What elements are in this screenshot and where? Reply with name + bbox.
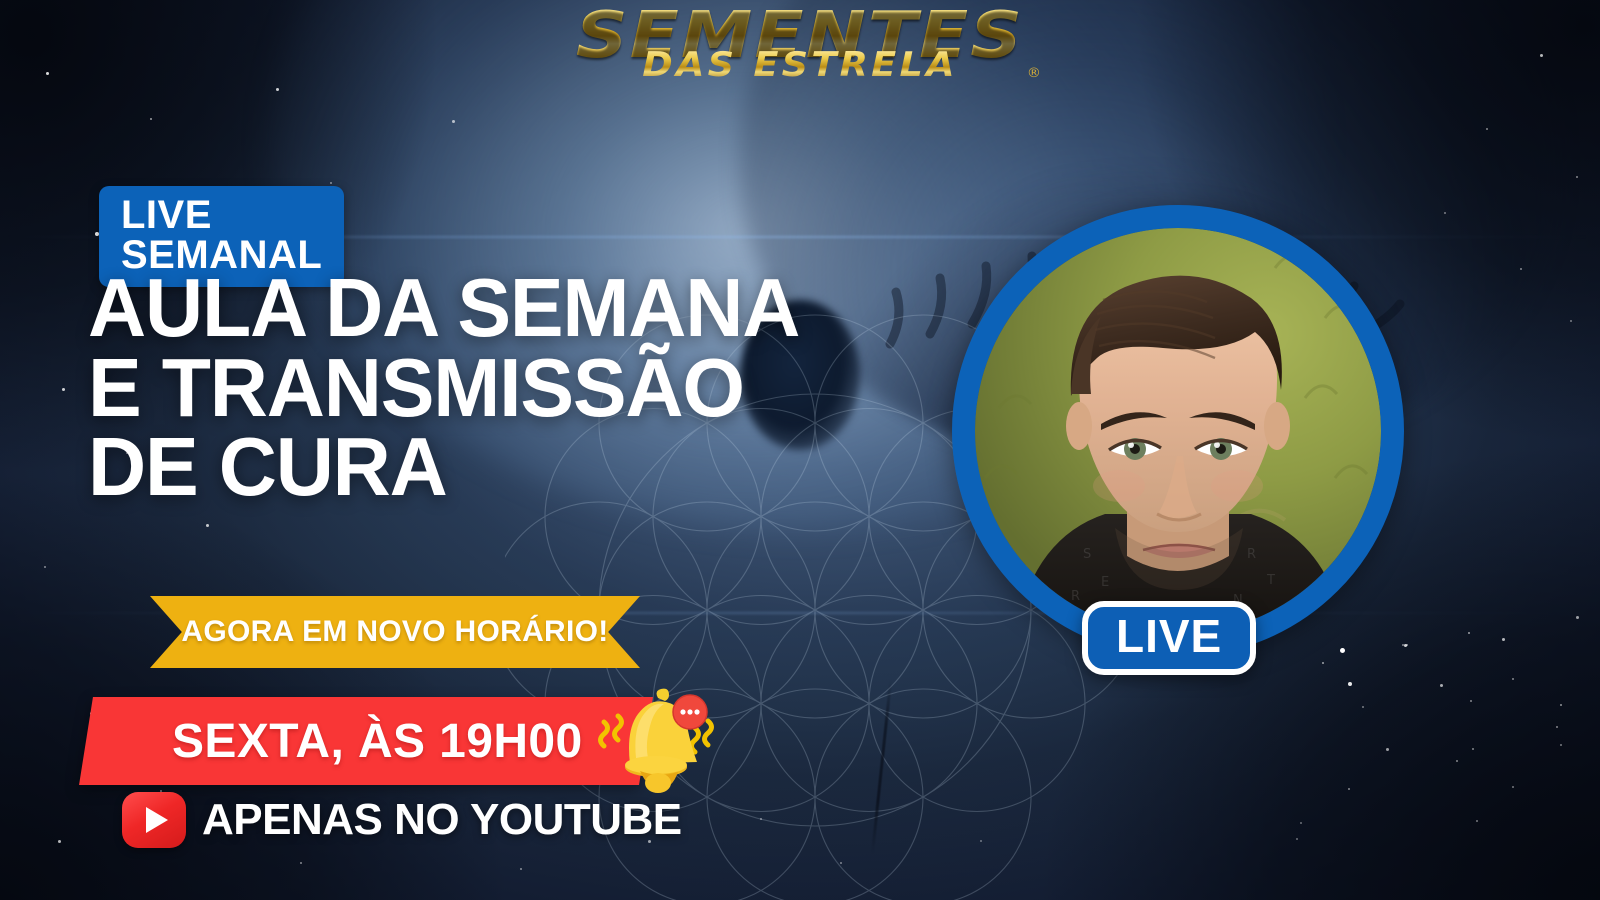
headline-line-2: E TRANSMISSÃO [88,348,799,428]
status-badge: LIVE [1082,601,1256,675]
headline-line-1: AULA DA SEMANA [88,268,799,348]
ribbon-label: AGORA EM NOVO HORÁRIO! [181,615,608,649]
promo-poster: SEMENTES DAS ESTRELA® LIVE SEMANAL AULA … [0,0,1600,900]
new-schedule-ribbon: AGORA EM NOVO HORÁRIO! [150,596,640,668]
youtube-play-icon[interactable] [122,792,186,848]
page-title: AULA DA SEMANA E TRANSMISSÃO DE CURA [88,268,799,507]
logo-sub-text: DAS ESTRELA® [584,48,1016,82]
play-triangle-icon [146,807,168,833]
platform-row[interactable]: APENAS NO YOUTUBE [122,792,682,848]
portrait-ring [952,205,1404,657]
trademark-icon: ® [1027,67,1044,80]
schedule-label: SEXTA, ÀS 19H00 [172,706,583,779]
headline-line-3: DE CURA [88,427,799,507]
bell-notification-icon [592,688,714,793]
brand-logo: SEMENTES DAS ESTRELA® [600,4,1000,82]
logo-sub-label: DAS ESTRELA [642,45,958,85]
platform-label: APENAS NO YOUTUBE [202,795,682,845]
avatar: SE RT RT NE [952,205,1404,657]
